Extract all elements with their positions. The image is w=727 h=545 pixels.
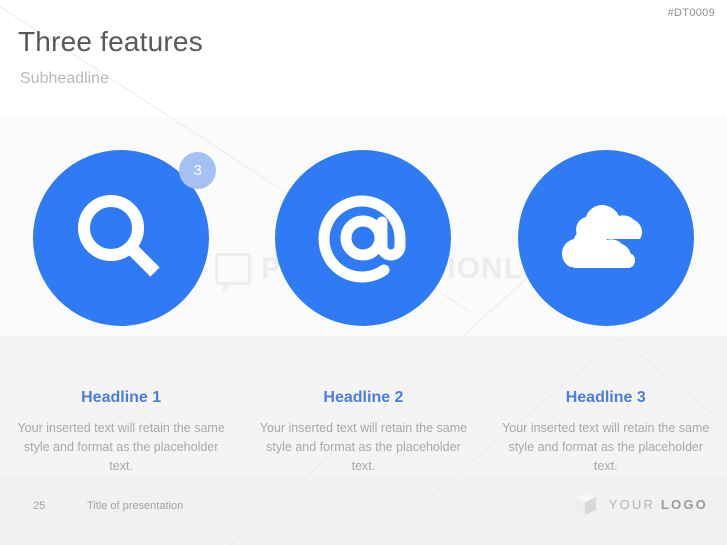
slide-canvas: PRESENTATIONLOAD #DT0009 Three features … xyxy=(0,0,727,545)
logo-suffix: LOGO xyxy=(661,497,708,512)
at-sign-icon xyxy=(311,186,415,290)
feature-icon-circle-3[interactable] xyxy=(518,150,694,326)
feature-body-2: Your inserted text will retain the same … xyxy=(257,419,469,476)
feature-icon-circle-1[interactable]: 3 xyxy=(33,150,209,326)
feature-column-3: Headline 3 Your inserted text will retai… xyxy=(485,150,727,476)
slide-id-code: #DT0009 xyxy=(668,7,715,19)
presentation-title: Title of presentation xyxy=(87,500,183,512)
feature-icon-circle-2[interactable] xyxy=(275,150,451,326)
page-subtitle: Subheadline xyxy=(20,70,109,88)
feature-column-1: 3 Headline 1 Your inserted text will ret… xyxy=(0,150,242,476)
logo[interactable]: YOUR LOGO xyxy=(573,491,708,517)
feature-headline-1: Headline 1 xyxy=(81,389,161,407)
feature-body-1: Your inserted text will retain the same … xyxy=(15,419,227,476)
page-number: 25 xyxy=(33,500,45,512)
feature-badge-1: 3 xyxy=(179,152,216,189)
magnifier-icon xyxy=(69,186,173,290)
feature-column-2: Headline 2 Your inserted text will retai… xyxy=(242,150,484,476)
page-title: Three features xyxy=(18,26,203,58)
logo-text: YOUR LOGO xyxy=(609,497,708,512)
background-band-top xyxy=(0,0,727,118)
cube-icon xyxy=(573,491,598,517)
feature-body-3: Your inserted text will retain the same … xyxy=(500,419,712,476)
logo-prefix: YOUR xyxy=(609,497,661,512)
feature-headline-3: Headline 3 xyxy=(566,389,646,407)
feature-row: 3 Headline 1 Your inserted text will ret… xyxy=(0,150,727,476)
cloud-icon xyxy=(550,195,662,281)
feature-headline-2: Headline 2 xyxy=(323,389,403,407)
